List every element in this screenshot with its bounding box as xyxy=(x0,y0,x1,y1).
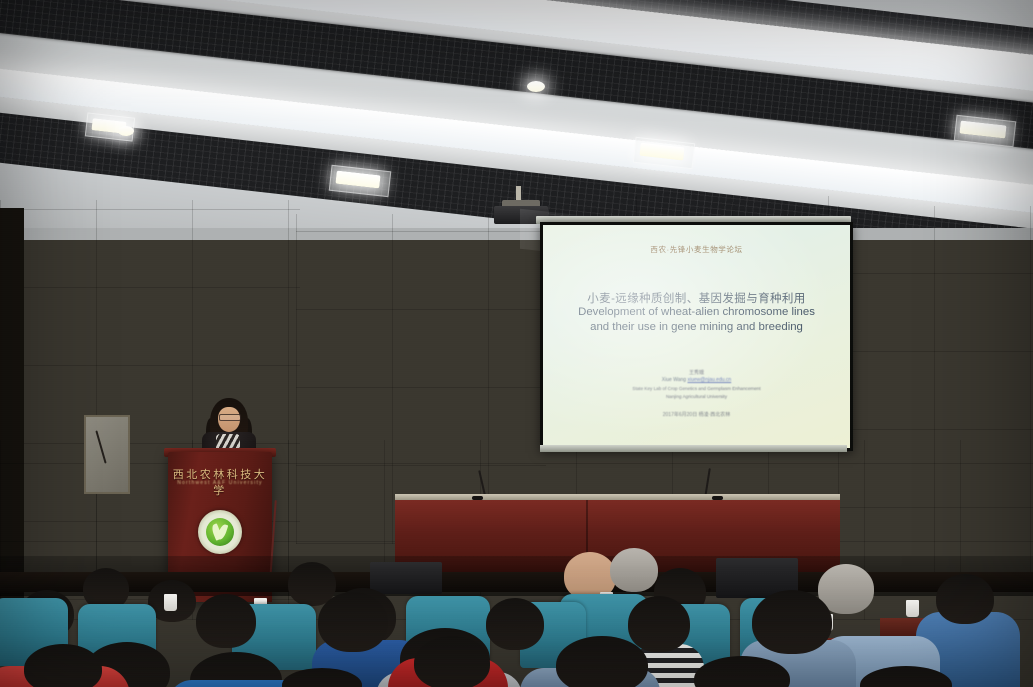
slide-presenter-email: xiuew@njau.edu.cn xyxy=(687,377,731,383)
slide-affiliation-line2: Nanjing Agricultural University xyxy=(543,394,850,399)
ceiling-spotlight xyxy=(118,126,134,136)
slide-presenter-line: Xiue Wang xiuew@njau.edu.cn xyxy=(543,377,850,383)
leaf-icon xyxy=(217,523,229,540)
attendee-head xyxy=(318,592,388,652)
attendee-head xyxy=(196,594,256,648)
podium-university-name-english: Northwest A&F University xyxy=(168,480,272,486)
screen-bottom-weight xyxy=(540,445,847,452)
paper-cup xyxy=(164,594,177,611)
attendee-head xyxy=(628,596,690,652)
slide-presenter-english: Xiue Wang xyxy=(662,377,686,383)
attendee-head xyxy=(936,574,994,624)
attendee-head xyxy=(752,590,832,654)
microphone-base xyxy=(472,496,483,500)
slide-date: 2017年6月20日 杨凌·西北农林 xyxy=(543,411,850,418)
attendee-head-front xyxy=(24,644,102,687)
attendee-head-front xyxy=(414,636,490,687)
paper-cup xyxy=(906,600,919,617)
attendee-head-front xyxy=(556,636,648,687)
attendee-head xyxy=(486,598,544,650)
attendee-head-gray xyxy=(610,548,658,592)
laptop xyxy=(370,562,442,594)
slide-title-english-line2: and their use in gene mining and breedin… xyxy=(543,321,850,333)
slide-title-english-line1: Development of wheat-alien chromosome li… xyxy=(543,306,850,318)
slide-presenter-chinese: 王秀娥 xyxy=(543,369,850,376)
lecture-hall-photo: 西农·先锋小麦生物学论坛 小麦-远缘种质创制、基因发掘与育种利用 Develop… xyxy=(0,0,1033,687)
slide-header: 西农·先锋小麦生物学论坛 xyxy=(543,244,850,255)
slide-title-chinese: 小麦-远缘种质创制、基因发掘与育种利用 xyxy=(543,290,850,306)
slide-affiliation-line1: State Key Lab of Crop Genetics and Germp… xyxy=(543,386,850,391)
ceiling-spotlight xyxy=(527,81,545,92)
projection-screen-frame: 西农·先锋小麦生物学论坛 小麦-远缘种质创制、基因发掘与育种利用 Develop… xyxy=(540,222,853,451)
wall-access-panel xyxy=(84,415,130,494)
microphone-base xyxy=(712,496,723,500)
audience-area xyxy=(0,540,1033,687)
projection-screen: 西农·先锋小麦生物学论坛 小麦-远缘种质创制、基因发掘与育种利用 Develop… xyxy=(543,225,850,448)
speaker-glasses xyxy=(219,414,241,421)
